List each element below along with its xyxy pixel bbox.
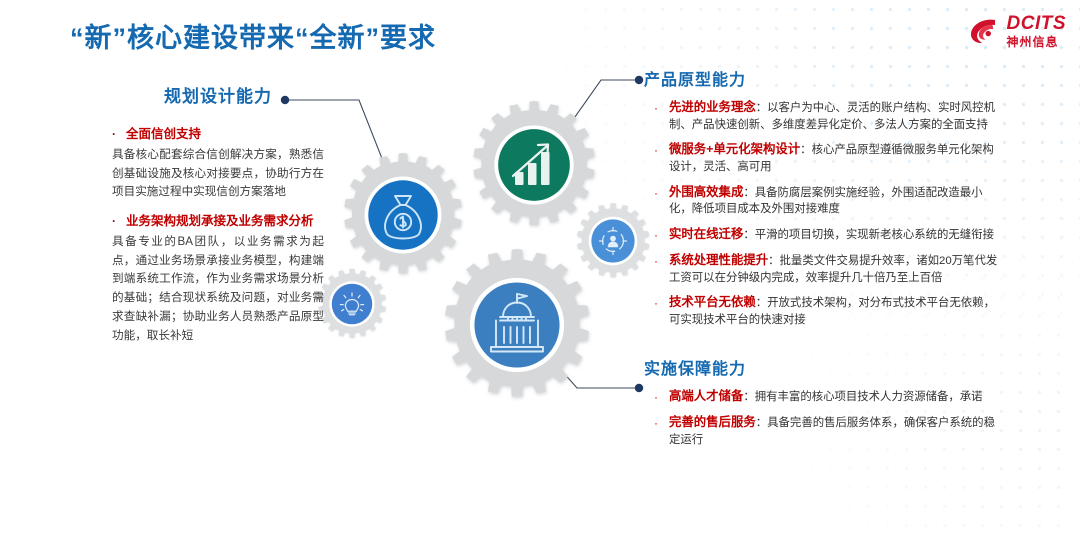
bullet-marker-icon: · — [654, 99, 669, 117]
right-bullet-text: 先进的业务理念：以客户为中心、灵活的账户结构、实时风控机制、产品快速创新、多维度… — [669, 99, 1002, 133]
list-item: · 技术平台无依赖：开放式技术架构，对分布式技术平台无依赖，可实现技术平台的快速… — [640, 294, 1002, 328]
left-bullet-title: 全面信创支持 — [126, 125, 201, 144]
bullet-marker-icon: · — [654, 252, 669, 270]
bullet-marker-icon: · — [112, 125, 126, 143]
left-column: 规划设计能力 · 全面信创支持 具备核心配套综合信创解决方案，熟悉信创基础设施及… — [112, 82, 324, 356]
slide-canvas: “新”核心建设带来“全新”要求 DCITS 神州信息 — [0, 0, 1080, 540]
right-bullet-title: 技术平台无依赖 — [669, 295, 756, 309]
list-item: · 先进的业务理念：以客户为中心、灵活的账户结构、实时风控机制、产品快速创新、多… — [640, 99, 1002, 133]
bullet-marker-icon: · — [654, 184, 669, 202]
bullet-marker-icon: · — [654, 388, 669, 406]
right-bullet-title: 微服务+单元化架构设计 — [669, 142, 800, 156]
right-bullet-separator: ： — [743, 229, 754, 241]
right-bullet-title: 实时在线迁移 — [669, 227, 743, 241]
gear-bank-building — [445, 249, 589, 396]
list-item: · 完善的售后服务：具备完善的售后服务体系，确保客户系统的稳定运行 — [640, 414, 1002, 448]
right-bullet-separator: ： — [756, 417, 767, 429]
right-bullet-separator: ： — [800, 144, 811, 156]
dcits-logo: DCITS 神州信息 — [967, 14, 1067, 48]
section-heading-prototype: 产品原型能力 — [644, 66, 1002, 90]
right-bullet-text: 外围高效集成：具备防腐层案例实施经验，外围适配改造最小化，降低项目成本及外围对接… — [669, 184, 1002, 218]
right-bullet-separator: ： — [743, 391, 754, 403]
right-bullet-text: 实时在线迁移：平滑的项目切换，实现新老核心系统的无缝衔接 — [669, 226, 994, 244]
right-bullet-title: 外围高效集成 — [669, 185, 743, 199]
dcits-swoosh-icon — [967, 14, 1001, 48]
gear-lightbulb — [318, 269, 385, 338]
right-bullet-text: 微服务+单元化架构设计：核心产品原型遵循微服务单元化架构设计，灵活、高可用 — [669, 141, 1002, 175]
right-bullet-body: 拥有丰富的核心项目技术人力资源储备，承诺 — [755, 391, 983, 403]
right-bullet-text: 完善的售后服务：具备完善的售后服务体系，确保客户系统的稳定运行 — [669, 414, 1002, 448]
right-bullet-text: 系统处理性能提升：批量类文件交易提升效率，诸如20万笔代发工资可以在分钟级内完成… — [669, 252, 1002, 286]
right-bullet-title: 高端人才储备 — [669, 389, 743, 403]
left-bullet-title-row: · 业务架构规划承接及业务需求分析 — [112, 212, 324, 231]
right-bullet-title: 先进的业务理念 — [669, 100, 756, 114]
right-bullet-separator: ： — [743, 187, 754, 199]
right-bullet-text: 技术平台无依赖：开放式技术架构，对分布式技术平台无依赖，可实现技术平台的快速对接 — [669, 294, 1002, 328]
section-heading-delivery: 实施保障能力 — [644, 355, 1002, 379]
list-item: · 外围高效集成：具备防腐层案例实施经验，外围适配改造最小化，降低项目成本及外围… — [640, 184, 1002, 218]
bullet-marker-icon: · — [654, 414, 669, 432]
left-bullet-title-row: · 全面信创支持 — [112, 125, 324, 144]
right-bullet-title: 系统处理性能提升 — [669, 253, 768, 267]
list-item: · 系统处理性能提升：批量类文件交易提升效率，诸如20万笔代发工资可以在分钟级内… — [640, 252, 1002, 286]
list-item: · 业务架构规划承接及业务需求分析 具备专业的BA团队，以业务需求为起点，通过业… — [112, 212, 324, 345]
logo-text-cn: 神州信息 — [1007, 36, 1067, 48]
gear-cluster-graphic — [300, 100, 660, 430]
bullet-marker-icon: · — [654, 226, 669, 244]
logo-text-en: DCITS — [1007, 14, 1067, 33]
bullet-marker-icon: · — [654, 141, 669, 159]
right-bullet-title: 完善的售后服务 — [669, 415, 756, 429]
right-bullet-separator: ： — [768, 255, 779, 267]
right-bullet-separator: ： — [756, 102, 767, 114]
list-item: · 全面信创支持 具备核心配套综合信创解决方案，熟悉信创基础设施及核心对接要点，… — [112, 125, 324, 202]
list-item: · 实时在线迁移：平滑的项目切换，实现新老核心系统的无缝衔接 — [640, 226, 1002, 244]
left-bullet-title: 业务架构规划承接及业务需求分析 — [126, 212, 314, 231]
list-item: · 高端人才储备：拥有丰富的核心项目技术人力资源储备，承诺 — [640, 388, 1002, 406]
left-bullet-body: 具备核心配套综合信创解决方案，熟悉信创基础设施及核心对接要点，协助行方在项目实施… — [112, 146, 324, 202]
bullet-marker-icon: · — [112, 212, 126, 230]
right-bullet-text: 高端人才储备：拥有丰富的核心项目技术人力资源储备，承诺 — [669, 388, 983, 406]
right-column: 产品原型能力 · 先进的业务理念：以客户为中心、灵活的账户结构、实时风控机制、产… — [640, 66, 1002, 457]
bullet-marker-icon: · — [654, 294, 669, 312]
logo-wordmark: DCITS 神州信息 — [1007, 14, 1067, 48]
left-bullet-body: 具备专业的BA团队，以业务需求为起点，通过业务场景承接业务模型，构建端到端系统工… — [112, 233, 324, 346]
left-column-heading: 规划设计能力 — [112, 82, 324, 107]
right-bullet-body: 平滑的项目切换，实现新老核心系统的无缝衔接 — [755, 229, 994, 241]
right-bullet-separator: ： — [756, 297, 767, 309]
page-title: “新”核心建设带来“全新”要求 — [70, 16, 436, 55]
list-item: · 微服务+单元化架构设计：核心产品原型遵循微服务单元化架构设计，灵活、高可用 — [640, 141, 1002, 175]
